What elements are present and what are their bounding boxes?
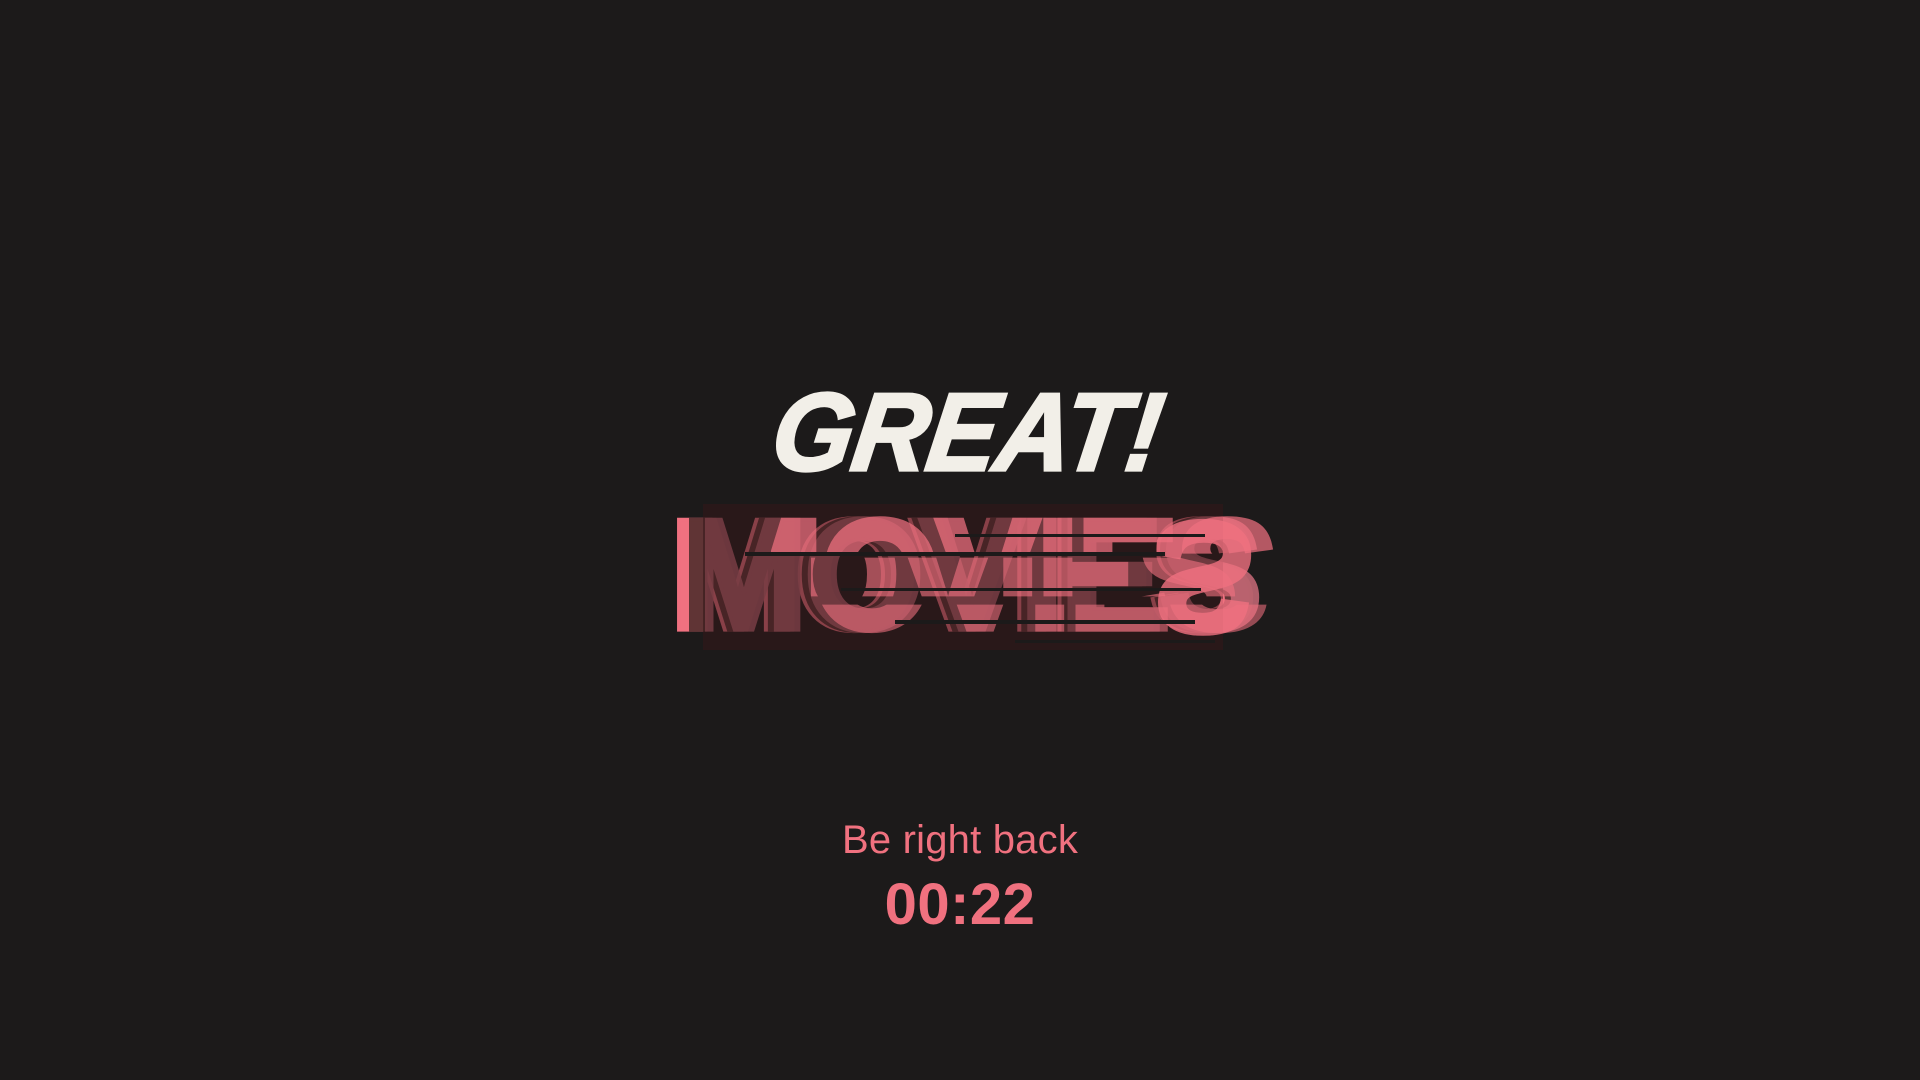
channel-name-secondary-glitch: MOVIES MOVIES MOVIES MOVIES MOVIES MOVIE… xyxy=(595,500,1325,650)
status-message: Be right back xyxy=(842,820,1078,860)
countdown-timer: 00:22 xyxy=(885,876,1036,934)
screen-background: GREAT! MOVIES MOVIES MOVIES MOVIES MOVIE… xyxy=(0,0,1920,1080)
channel-branding-block: GREAT! MOVIES MOVIES MOVIES MOVIES MOVIE… xyxy=(0,384,1920,674)
channel-name-primary: GREAT! xyxy=(766,378,1169,488)
status-block: Be right back 00:22 xyxy=(0,820,1920,934)
